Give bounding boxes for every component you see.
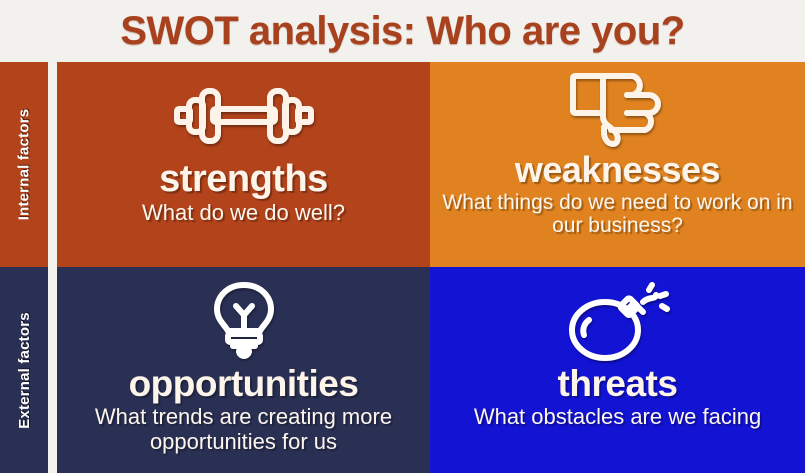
quadrant-strengths-heading: strengths <box>159 160 328 198</box>
lightbulb-icon <box>206 279 282 363</box>
axis-label-external-factors: External factors <box>0 267 48 473</box>
quadrant-weaknesses[interactable]: weaknesses What things do we need to wor… <box>430 62 805 267</box>
axis-label-internal-factors: Internal factors <box>0 62 48 267</box>
quadrant-threats-subtitle: What obstacles are we facing <box>466 405 769 430</box>
swot-diagram: SWOT analysis: Who are you? Internal fac… <box>0 0 805 473</box>
quadrant-weaknesses-subtitle: What things do we need to work on in our… <box>430 191 805 237</box>
page-title: SWOT analysis: Who are you? <box>120 9 684 54</box>
dumbbell-icon <box>169 74 319 158</box>
axis-label-external-text: External factors <box>16 312 33 429</box>
title-bar: SWOT analysis: Who are you? <box>0 0 805 62</box>
thumbs-down-icon <box>568 70 668 150</box>
bomb-icon <box>563 279 673 363</box>
quadrant-opportunities-heading: opportunities <box>129 365 359 402</box>
axis-label-internal-text: Internal factors <box>16 109 33 221</box>
quadrant-opportunities-subtitle: What trends are creating more opportunit… <box>57 405 430 454</box>
quadrant-weaknesses-heading: weaknesses <box>515 152 720 188</box>
quadrant-strengths-subtitle: What do we do well? <box>134 201 353 226</box>
quadrant-grid: strengths What do we do well? weaknesses <box>57 62 805 473</box>
axis-quadrant-divider <box>48 62 57 473</box>
quadrant-strengths[interactable]: strengths What do we do well? <box>57 62 430 267</box>
quadrant-threats[interactable]: threats What obstacles are we facing <box>430 267 805 473</box>
quadrant-opportunities[interactable]: opportunities What trends are creating m… <box>57 267 430 473</box>
quadrant-threats-heading: threats <box>558 365 678 402</box>
